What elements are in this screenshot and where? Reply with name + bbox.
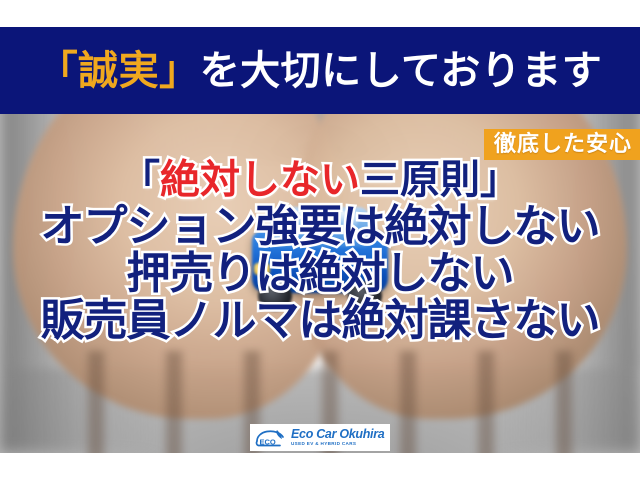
letterbox-top — [0, 0, 640, 27]
headline-tail: 三原則 — [360, 158, 480, 202]
rule-line-1: オプション強要は絶対しない — [0, 205, 640, 250]
headline-block: 「絶対しない三原則」 オプション強要は絶対しない 押売りは絶対しない 販売員ノル… — [0, 160, 640, 343]
brand-logo-wordmark: Eco Car Okuhira USED EV & HYBRID CARS — [291, 428, 384, 446]
assurance-badge: 徹底した安心 — [484, 129, 640, 160]
brand-name: Eco Car Okuhira — [291, 428, 384, 441]
letterbox-bottom — [0, 453, 640, 480]
top-banner: 「誠実」を大切にしております — [0, 27, 640, 114]
headline-open-bracket: 「 — [120, 158, 160, 202]
top-banner-rest: を大切にしております — [200, 49, 603, 93]
brand-logo: ECO Eco Car Okuhira USED EV & HYBRID CAR… — [250, 424, 390, 451]
headline-close-bracket: 」 — [480, 158, 520, 202]
headline-title: 「絶対しない三原則」 — [0, 160, 640, 201]
top-banner-text: 「誠実」を大切にしております — [38, 51, 603, 91]
eco-car-icon: ECO — [254, 428, 288, 448]
rule-line-3: 販売員ノルマは絶対課さない — [0, 299, 640, 344]
rule-line-2: 押売りは絶対しない — [0, 252, 640, 297]
screenshot-root: 「誠実」を大切にしております 徹底した安心 「絶対しない三原則」 オプション強要… — [0, 0, 640, 480]
assurance-badge-label: 徹底した安心 — [494, 131, 632, 156]
svg-text:ECO: ECO — [260, 437, 276, 446]
brand-tagline: USED EV & HYBRID CARS — [291, 442, 384, 447]
top-banner-keyword: 「誠実」 — [38, 49, 200, 93]
headline-emphasis: 絶対しない — [160, 158, 360, 202]
